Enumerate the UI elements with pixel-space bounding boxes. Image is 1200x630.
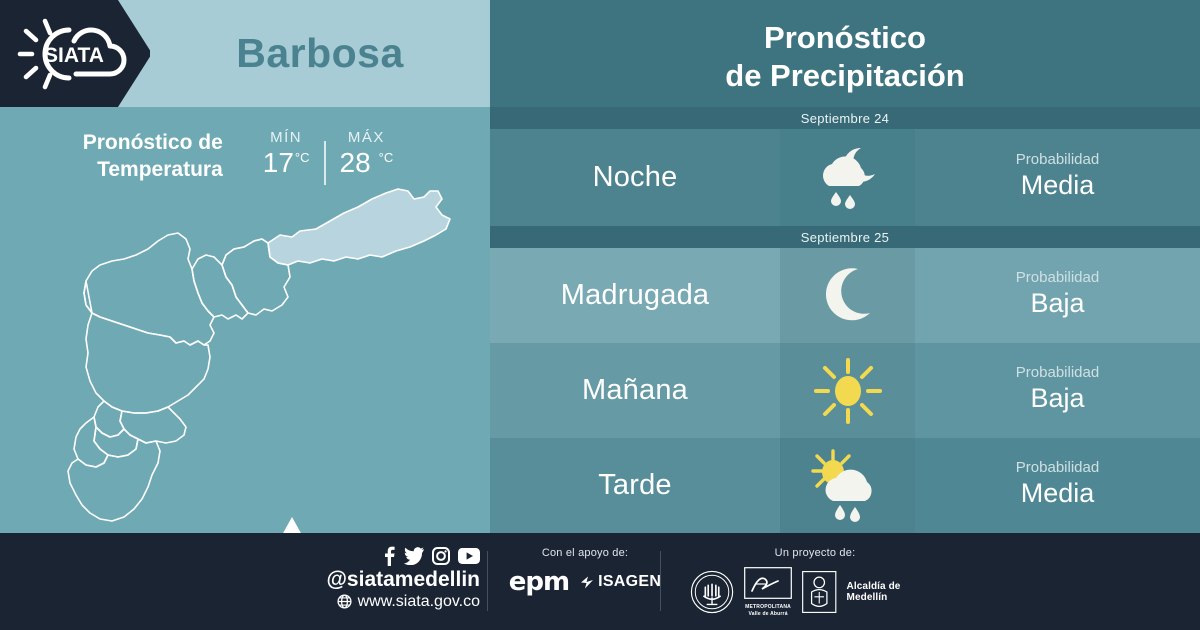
project-block: Un proyecto de: METROPOLITANA — [690, 547, 940, 618]
period-cell: Tarde — [490, 438, 780, 533]
forecast-row-manana[interactable]: Mañana Pr — [490, 343, 1200, 438]
temperature-max: MÁX 28 °C — [326, 129, 408, 179]
period-cell: Mañana — [490, 343, 780, 438]
probability-value: Baja — [1030, 382, 1084, 416]
city-name: Barbosa — [150, 0, 490, 107]
moon-rain-icon — [809, 142, 887, 214]
amva-mark-icon — [744, 567, 792, 599]
siata-logo-text: SIATA — [44, 44, 104, 67]
aburra-valley-map[interactable]: N — [0, 185, 490, 533]
probability-cell: Probabilidad Media — [915, 438, 1200, 533]
temperature-title-line1: Pronóstico de — [83, 130, 223, 157]
right-panel: Pronóstico de Precipitación Septiembre 2… — [490, 0, 1200, 533]
youtube-icon[interactable] — [458, 548, 480, 564]
left-body: Pronóstico de Temperatura MÍN 17 °C MÁX — [0, 107, 490, 533]
globe-icon — [337, 594, 352, 609]
social-icons — [300, 545, 480, 567]
temperature-min-value: 17 — [263, 147, 294, 179]
period-cell: Noche — [490, 129, 780, 226]
temperature-divider — [324, 141, 326, 185]
temperature-max-value: 28 — [340, 147, 371, 179]
date-band-day1: Septiembre 24 — [490, 107, 1200, 129]
isagen-text: ISAGEN — [598, 573, 661, 591]
period-label: Tarde — [598, 469, 672, 502]
forecast-row-tarde[interactable]: Tarde Probabili — [490, 438, 1200, 533]
isagen-mark-icon — [579, 575, 595, 590]
epm-logo[interactable]: epm — [509, 567, 569, 597]
probability-value: Media — [1021, 169, 1095, 203]
temperature-values: MÍN 17 °C MÁX 28 °C — [249, 129, 408, 185]
weather-icon-cell — [780, 248, 915, 343]
map-region-bello — [84, 233, 214, 345]
alcaldia-crest-icon[interactable] — [802, 570, 836, 614]
amva-line2: Valle de Aburrá — [744, 611, 792, 618]
period-label: Madrugada — [561, 279, 710, 312]
temperature-min-unit: °C — [295, 150, 310, 165]
amva-logo[interactable]: METROPOLITANA Valle de Aburrá — [744, 567, 792, 618]
amva-line1: METROPOLITANA — [744, 604, 792, 611]
temperature-title-line2: Temperatura — [83, 157, 223, 184]
precipitation-title-line1: Pronóstico — [764, 19, 926, 57]
map-region-caldas — [68, 439, 160, 521]
sun-icon — [812, 356, 884, 426]
instagram-icon[interactable] — [432, 547, 450, 565]
isagen-logo[interactable]: ISAGEN — [579, 573, 661, 591]
map-region-itagui — [94, 401, 124, 437]
precipitation-title: Pronóstico de Precipitación — [490, 8, 1200, 106]
left-header: SIATA Barbosa — [0, 0, 490, 107]
forecast-row-madrugada[interactable]: Madrugada Probabilidad Baja — [490, 248, 1200, 343]
support-title: Con el apoyo de: — [505, 547, 665, 559]
udea-seal-icon[interactable] — [690, 569, 734, 615]
siata-logo[interactable]: SIATA — [14, 14, 132, 94]
twitter-icon[interactable] — [404, 547, 424, 565]
footer-divider-2 — [660, 551, 661, 611]
moon-icon — [818, 265, 878, 327]
probability-cell: Probabilidad Media — [915, 129, 1200, 226]
date-band-day2: Septiembre 25 — [490, 226, 1200, 248]
precipitation-title-line2: de Precipitación — [725, 57, 964, 95]
probability-cell: Probabilidad Baja — [915, 343, 1200, 438]
probability-caption: Probabilidad — [1016, 152, 1099, 169]
left-panel: SIATA Barbosa Pronóstico de Temperatura … — [0, 0, 490, 533]
map-region-envigado — [120, 407, 186, 443]
probability-caption: Probabilidad — [1016, 270, 1099, 287]
probability-caption: Probabilidad — [1016, 460, 1099, 477]
temperature-max-value-group: 28 °C — [340, 147, 394, 179]
temperature-min: MÍN 17 °C — [249, 129, 324, 179]
probability-value: Media — [1021, 477, 1095, 511]
temperature-min-value-group: 17 °C — [263, 147, 310, 179]
map-region-copacabana — [192, 255, 248, 319]
period-cell: Madrugada — [490, 248, 780, 343]
weather-icon-cell — [780, 343, 915, 438]
social-block: @siatamedellin www.siata.gov.co — [300, 545, 480, 611]
website-url: www.siata.gov.co — [358, 592, 480, 611]
probability-value: Baja — [1030, 287, 1084, 321]
temperature-block: Pronóstico de Temperatura MÍN 17 °C MÁX — [0, 121, 490, 193]
support-logos: epm ISAGEN — [505, 567, 665, 597]
project-title: Un proyecto de: — [690, 547, 940, 559]
map-region-medellin — [84, 281, 210, 413]
website-line[interactable]: www.siata.gov.co — [300, 592, 480, 611]
alcaldia-label: Alcaldía de Medellín — [847, 581, 940, 603]
sun-rain-icon — [807, 449, 889, 523]
temperature-max-label: MÁX — [348, 129, 385, 146]
footer-divider-1 — [487, 551, 488, 611]
facebook-icon[interactable] — [382, 546, 396, 566]
probability-cell: Probabilidad Baja — [915, 248, 1200, 343]
map-svg — [0, 185, 490, 533]
map-region-barbosa-outline — [222, 239, 268, 265]
logo-chevron: SIATA — [0, 0, 150, 107]
map-region-barbosa — [268, 189, 450, 265]
project-logos: METROPOLITANA Valle de Aburrá Alcaldía d… — [690, 567, 940, 618]
support-block: Con el apoyo de: epm ISAGEN — [505, 547, 665, 597]
weather-forecast-poster: SIATA Barbosa Pronóstico de Temperatura … — [0, 0, 1200, 630]
probability-caption: Probabilidad — [1016, 365, 1099, 382]
footer: @siatamedellin www.siata.gov.co Con el a… — [0, 533, 1200, 630]
period-label: Noche — [593, 161, 678, 194]
temperature-title: Pronóstico de Temperatura — [83, 130, 223, 184]
temperature-min-label: MÍN — [270, 129, 302, 146]
weather-icon-cell — [780, 438, 915, 533]
period-label: Mañana — [582, 374, 688, 407]
social-handle[interactable]: @siatamedellin — [300, 568, 480, 592]
weather-icon-cell — [780, 129, 915, 226]
temperature-max-unit: °C — [379, 150, 394, 165]
forecast-row-noche[interactable]: Noche Probabilidad Media — [490, 129, 1200, 226]
